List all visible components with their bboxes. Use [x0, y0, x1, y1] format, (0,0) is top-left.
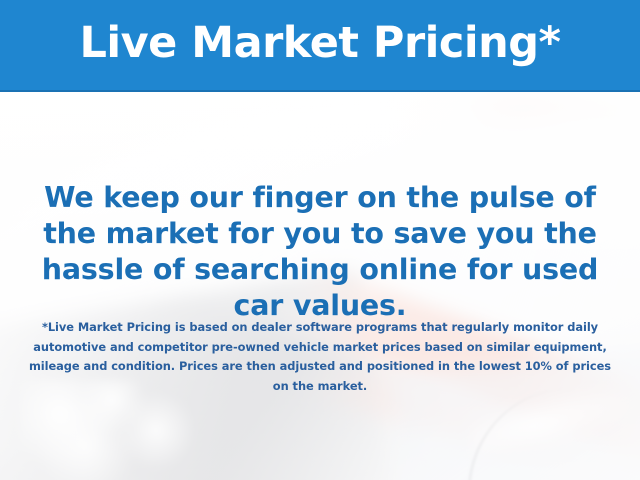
live-market-pricing-banner-graphic: Live Market Pricing* We keep our finger … [0, 0, 640, 480]
headline-text: We keep our finger on the pulse of the m… [20, 180, 620, 324]
header-banner: Live Market Pricing* [0, 0, 640, 92]
page-title: Live Market Pricing* [79, 22, 560, 68]
disclaimer-text: *Live Market Pricing is based on dealer … [28, 318, 612, 396]
content-area: We keep our finger on the pulse of the m… [0, 92, 640, 480]
